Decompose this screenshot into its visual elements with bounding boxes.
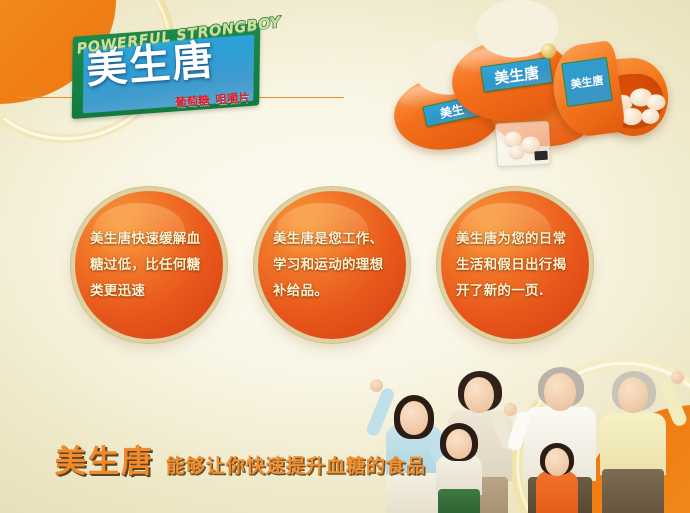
bottom-tagline: 美生唐 能够让你快速提升血糖的食品 bbox=[55, 436, 426, 481]
feature-circle-1-text: 美生唐快速缓解血糖过低，比任何糖类更迅速 bbox=[90, 226, 208, 304]
head bbox=[545, 448, 569, 476]
figure-boy bbox=[528, 439, 586, 513]
head bbox=[618, 377, 648, 413]
fist bbox=[370, 379, 383, 392]
tagline-slogan: 能够让你快速提升血糖的食品 bbox=[166, 451, 426, 478]
fist bbox=[671, 371, 684, 384]
skirt bbox=[602, 469, 664, 513]
head bbox=[446, 429, 472, 459]
figure-girl bbox=[428, 417, 490, 513]
head bbox=[544, 373, 576, 411]
feature-circle-3-text: 美生唐为您的日常生活和假日出行揭开了新的一页. bbox=[456, 226, 574, 304]
head bbox=[400, 401, 428, 435]
family-photo bbox=[372, 348, 690, 513]
feature-circle-2-text: 美生唐是您工作、学习和运动的理想补给品。 bbox=[273, 226, 391, 304]
promotional-poster: 美生唐 POWERFUL STRONGBOY 葡萄糖咀嚼片 美生 美生唐 bbox=[0, 0, 690, 513]
feature-circle-2[interactable]: 美生唐是您工作、学习和运动的理想补给品。 bbox=[258, 191, 406, 339]
head bbox=[464, 377, 494, 413]
torso bbox=[536, 471, 578, 513]
figure-older-woman bbox=[590, 363, 678, 513]
feature-circle-3[interactable]: 美生唐为您的日常生活和假日出行揭开了新的一页. bbox=[441, 191, 589, 339]
skirt bbox=[438, 489, 480, 513]
feature-circle-1[interactable]: 美生唐快速缓解血糖过低，比任何糖类更迅速 bbox=[75, 191, 223, 339]
torso bbox=[600, 413, 666, 475]
tagline-brand: 美生唐 bbox=[55, 436, 154, 481]
